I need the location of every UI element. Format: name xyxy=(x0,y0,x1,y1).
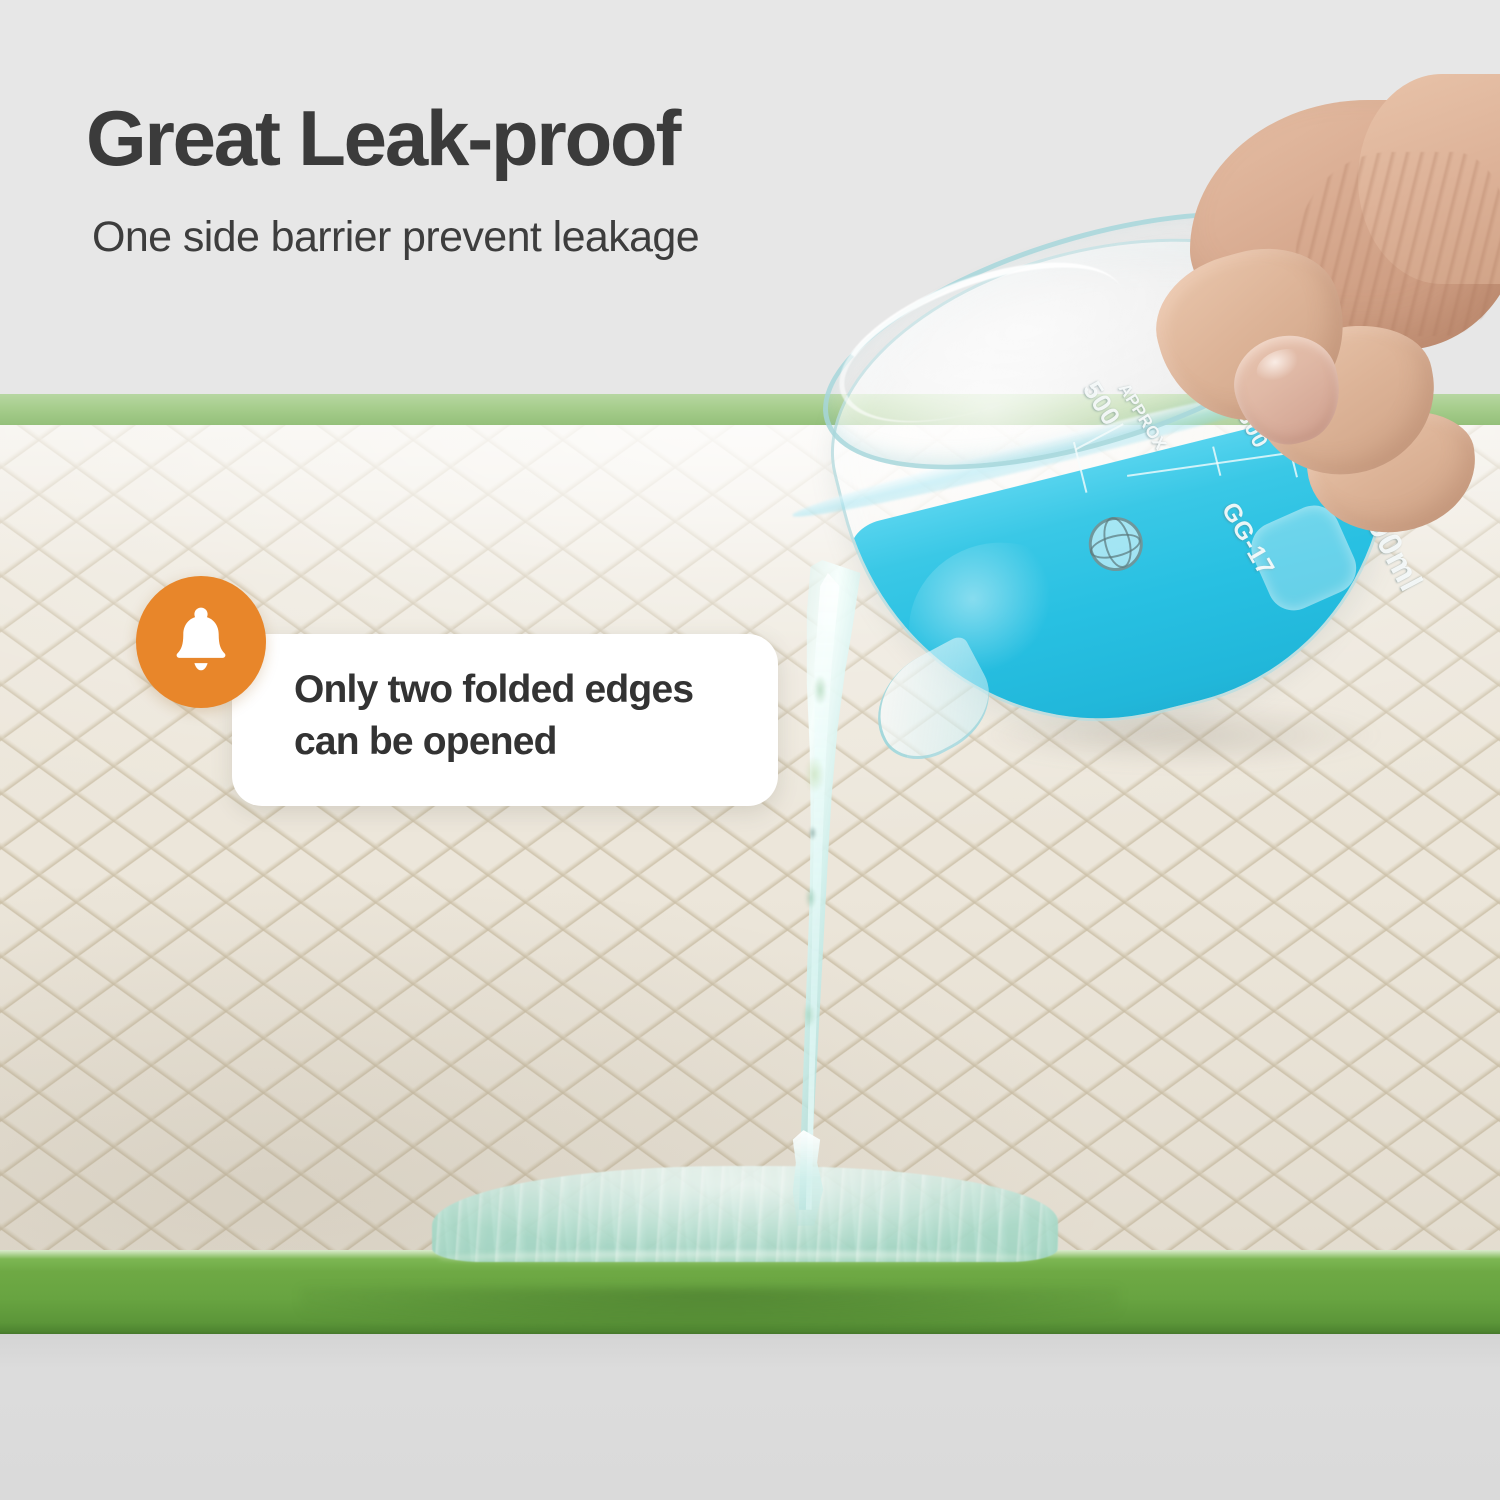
bell-icon xyxy=(168,607,234,677)
product-marketing-image: Great Leak-proof One side barrier preven… xyxy=(0,0,1500,1500)
puddle-edge-foam xyxy=(438,1251,1039,1265)
lower-background-band xyxy=(0,1333,1500,1500)
avatar xyxy=(1040,100,1500,570)
callout-card: Only two folded edges can be opened xyxy=(232,634,778,806)
callout-text: Only two folded edges can be opened xyxy=(294,664,754,769)
page-subtitle: One side barrier prevent leakage xyxy=(92,212,699,264)
callout-badge xyxy=(136,576,266,708)
page-title: Great Leak-proof xyxy=(86,98,679,180)
